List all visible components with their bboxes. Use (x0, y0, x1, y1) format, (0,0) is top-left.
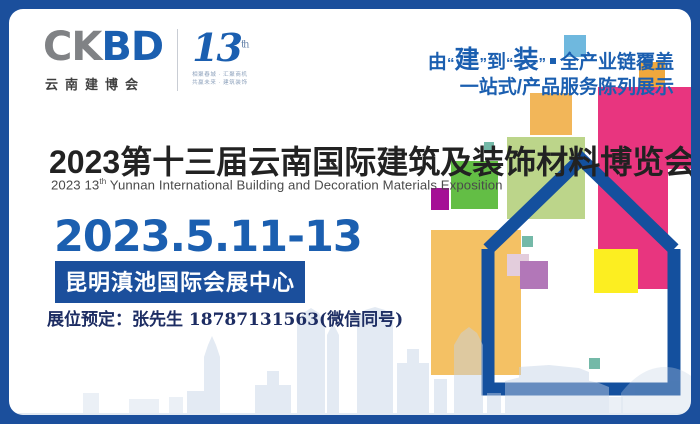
headline-l1-b: 建 (454, 46, 479, 74)
headline-l2-a: 一站式 (460, 77, 517, 98)
headline-bullet-square (550, 58, 556, 64)
headline-line-1: 由“建”到“装”全产业链覆盖 (329, 45, 674, 76)
logo-row: CKBD 云南建博会 13th 相聚春城 · 汇聚商机 共赢未来 · 建筑装饰 (43, 27, 278, 93)
teal-tiny-square-bottom (589, 358, 600, 369)
headline-l1-e: 全产业链覆盖 (560, 52, 674, 73)
headline-quote-4: ” (538, 55, 546, 72)
house-body-outline (488, 249, 674, 389)
anniversary-digits: 13 (192, 25, 241, 70)
magenta-bracket (598, 87, 691, 289)
booth-booking-contact: 展位预定：张先生 18787131563(微信同号) (47, 305, 403, 330)
title-english-post: Yunnan International Building and Decora… (106, 177, 502, 192)
event-venue: 昆明滇池国际会展中心 (55, 261, 305, 303)
headline-l1-c: 到 (487, 52, 506, 73)
headline-quote-2: ” (479, 55, 487, 72)
magenta-block-lower (598, 87, 668, 289)
title-english: 2023 13th Yunnan International Building … (51, 177, 503, 192)
yellow-square (594, 249, 638, 293)
teal-tiny-square-mid (522, 236, 533, 247)
logo-divider (177, 29, 178, 91)
anniversary-block: 13th 相聚春城 · 汇聚商机 共赢未来 · 建筑装饰 (192, 27, 278, 88)
event-date: 2023.5.11-13 (54, 212, 362, 262)
poster-frame: CKBD 云南建博会 13th 相聚春城 · 汇聚商机 共赢未来 · 建筑装饰 … (0, 0, 700, 424)
headline-line-2: 一站式/产品服务陈列展示 (329, 76, 674, 101)
anniversary-tagline-line2: 共赢未来 · 建筑装饰 (192, 79, 278, 87)
logo-mark: CKBD 云南建博会 (43, 27, 163, 93)
anniversary-suffix: th (241, 39, 247, 50)
title-english-pre: 2023 13 (51, 177, 99, 192)
violet-square (520, 261, 548, 289)
logo-chinese-name: 云南建博会 (43, 74, 163, 93)
logo-abbr-part1: CK (43, 24, 101, 70)
logo-abbreviation: CKBD (43, 27, 163, 67)
headline-l1-d: 装 (513, 46, 538, 74)
anniversary-number: 13th (192, 29, 278, 67)
logo-abbr-part2: BD (101, 24, 163, 70)
anniversary-tagline: 相聚春城 · 汇聚商机 共赢未来 · 建筑装饰 (192, 71, 278, 88)
poster-inner: CKBD 云南建博会 13th 相聚春城 · 汇聚商机 共赢未来 · 建筑装饰 … (9, 9, 691, 415)
headline-l2-b: 产品服务陈列展示 (522, 77, 674, 98)
headline-l1-a: 由 (428, 52, 447, 73)
anniversary-tagline-line1: 相聚春城 · 汇聚商机 (192, 71, 278, 79)
headline: 由“建”到“装”全产业链覆盖 一站式/产品服务陈列展示 (329, 45, 674, 101)
pale-pink-square (507, 254, 529, 276)
gold-large-square (431, 230, 521, 375)
